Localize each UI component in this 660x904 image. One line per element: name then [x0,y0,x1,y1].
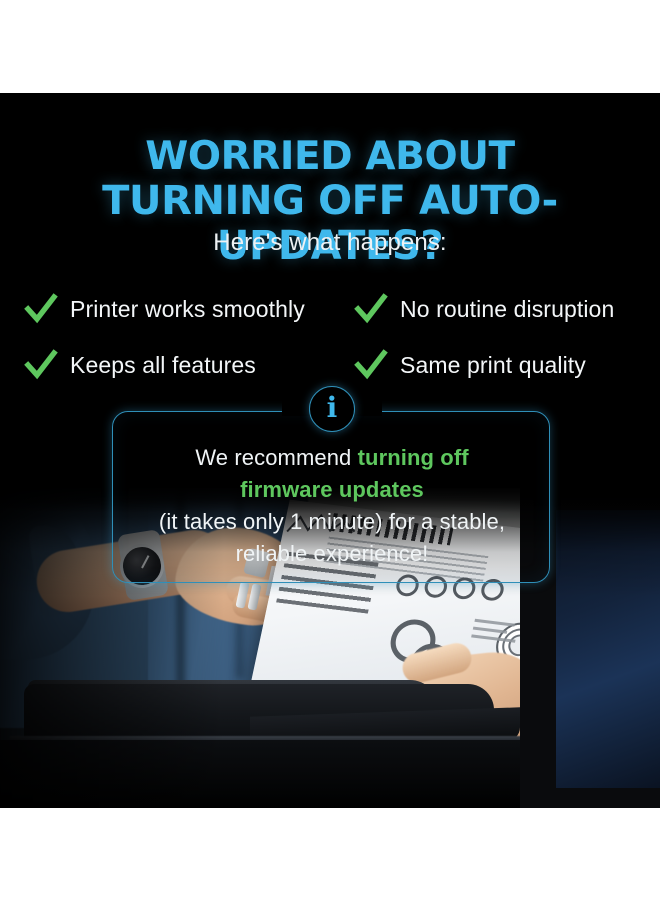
benefits-list: Printer works smoothly No routine disrup… [24,281,644,393]
headline-line-1: WORRIED ABOUT [145,134,514,179]
check-icon [354,348,388,382]
callout-text: We recommend turning off firmware update… [113,442,551,570]
check-icon [24,292,58,326]
recommendation-callout: i We recommend turning off firmware upda… [112,411,550,583]
info-icon-glyph: i [327,394,338,422]
list-item: Printer works smoothly [24,292,354,326]
info-icon: i [309,386,355,432]
callout-highlight-2: firmware updates [240,477,424,502]
subheading: Here's what happens: [0,229,660,257]
top-white-band [0,0,660,93]
promo-panel: WORRIED ABOUT TURNING OFF AUTO-UPDATES? … [0,93,660,808]
list-item: Same print quality [354,348,644,382]
callout-text-line-3: (it takes only 1 minute) for a stable, [159,509,505,534]
benefit-label: Keeps all features [70,352,256,379]
callout-text-line-4: reliable experience! [236,541,429,566]
list-item: No routine disruption [354,292,644,326]
benefit-label: Same print quality [400,352,586,379]
check-icon [24,348,58,382]
callout-highlight-1: turning off [358,445,469,470]
benefit-label: Printer works smoothly [70,296,305,323]
benefit-label: No routine disruption [400,296,614,323]
bottom-white-band [0,808,660,904]
check-icon [354,292,388,326]
callout-text-lead: We recommend [195,445,357,470]
promo-image-canvas: WORRIED ABOUT TURNING OFF AUTO-UPDATES? … [0,0,660,904]
list-item: Keeps all features [24,348,354,382]
